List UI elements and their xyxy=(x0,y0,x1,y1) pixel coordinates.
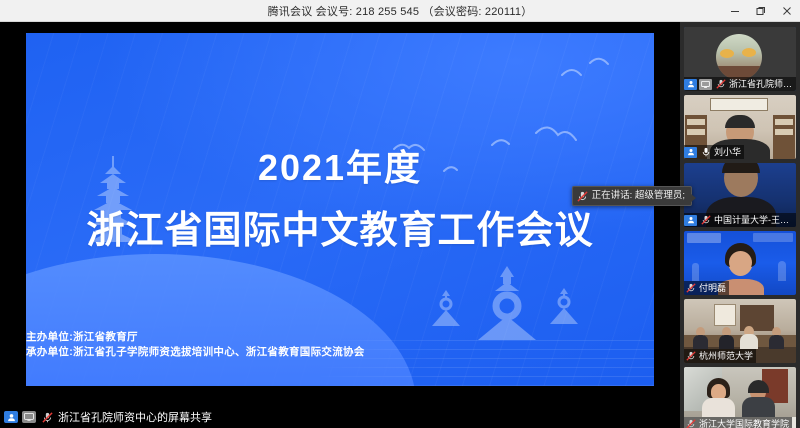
screen-share-status-bar: 浙江省孔院师资中心的屏幕共享 xyxy=(0,406,680,428)
participant-tile[interactable]: 刘小华 xyxy=(684,95,796,159)
mic-muted-icon xyxy=(577,191,588,202)
user-icon xyxy=(4,411,18,423)
participant-tile[interactable]: 浙江省孔院师资中... xyxy=(684,27,796,91)
mic-icon xyxy=(699,147,712,158)
screen-share-label: 浙江省孔院师资中心的屏幕共享 xyxy=(58,409,212,425)
participant-name: 杭州师范大学 xyxy=(699,351,753,362)
slide-title-year: 2021年度 xyxy=(258,139,422,191)
mic-muted-icon xyxy=(684,283,697,294)
participant-video-rail[interactable]: 浙江省孔院师资中... xyxy=(680,22,800,428)
participant-tile[interactable]: 付明磊 xyxy=(684,231,796,295)
participant-name: 付明磊 xyxy=(699,283,726,294)
restore-button[interactable] xyxy=(748,0,774,22)
participant-tile[interactable]: 杭州师范大学 xyxy=(684,299,796,363)
participant-tile[interactable]: 浙江大学国际教育学院 xyxy=(684,367,796,428)
avatar xyxy=(716,34,762,80)
slide-credits: 主办单位:浙江省教育厅 承办单位:浙江省孔子学院师资选拔培训中心、浙江省教育国际… xyxy=(26,330,654,360)
speaking-tooltip: 正在讲话: 超级管理员; xyxy=(572,186,692,206)
screen-share-icon xyxy=(22,411,36,423)
mic-muted-icon xyxy=(699,215,712,226)
mic-muted-icon xyxy=(684,351,697,362)
participant-nameplate: 浙江大学国际教育学院 xyxy=(684,417,792,428)
participant-tile[interactable]: 中国计量大学-王鉴棋 xyxy=(684,163,796,227)
window-titlebar: 腾讯会议 会议号: 218 255 545 （会议密码: 220111） xyxy=(0,0,800,22)
slide-host-line: 主办单位:浙江省教育厅 xyxy=(26,330,654,345)
participant-name: 浙江大学国际教育学院 xyxy=(699,419,789,428)
window-controls xyxy=(722,0,800,22)
presentation-slide: 2021年度 浙江省国际中文教育工作会议 主办单位:浙江省教育厅 承办单位:浙江… xyxy=(26,33,654,386)
user-icon xyxy=(684,215,697,226)
participant-nameplate: 中国计量大学-王鉴棋 xyxy=(684,213,796,227)
participant-name: 刘小华 xyxy=(714,147,741,158)
participant-nameplate: 杭州师范大学 xyxy=(684,349,756,363)
minimize-button[interactable] xyxy=(722,0,748,22)
mic-muted-icon xyxy=(40,411,54,423)
user-icon xyxy=(684,79,697,90)
mic-muted-icon xyxy=(714,79,727,90)
tencent-meeting-window: 腾讯会议 会议号: 218 255 545 （会议密码: 220111） xyxy=(0,0,800,428)
speaking-tooltip-text: 正在讲话: 超级管理员; xyxy=(592,189,685,203)
mic-muted-icon xyxy=(684,419,697,428)
participant-nameplate: 付明磊 xyxy=(684,281,729,295)
window-title: 腾讯会议 会议号: 218 255 545 （会议密码: 220111） xyxy=(268,3,533,19)
participant-nameplate: 浙江省孔院师资中... xyxy=(684,77,796,91)
slide-organizer-line: 承办单位:浙江省孔子学院师资选拔培训中心、浙江省教育国际交流协会 xyxy=(26,345,654,360)
shared-screen-stage[interactable]: 2021年度 浙江省国际中文教育工作会议 主办单位:浙江省教育厅 承办单位:浙江… xyxy=(0,22,680,428)
user-icon xyxy=(684,147,697,158)
participant-name: 浙江省孔院师资中... xyxy=(729,79,793,90)
screen-share-icon xyxy=(699,79,712,90)
slide-title-main: 浙江省国际中文教育工作会议 xyxy=(86,199,593,254)
close-button[interactable] xyxy=(774,0,800,22)
participant-name: 中国计量大学-王鉴棋 xyxy=(714,215,793,226)
participant-nameplate: 刘小华 xyxy=(684,145,744,159)
